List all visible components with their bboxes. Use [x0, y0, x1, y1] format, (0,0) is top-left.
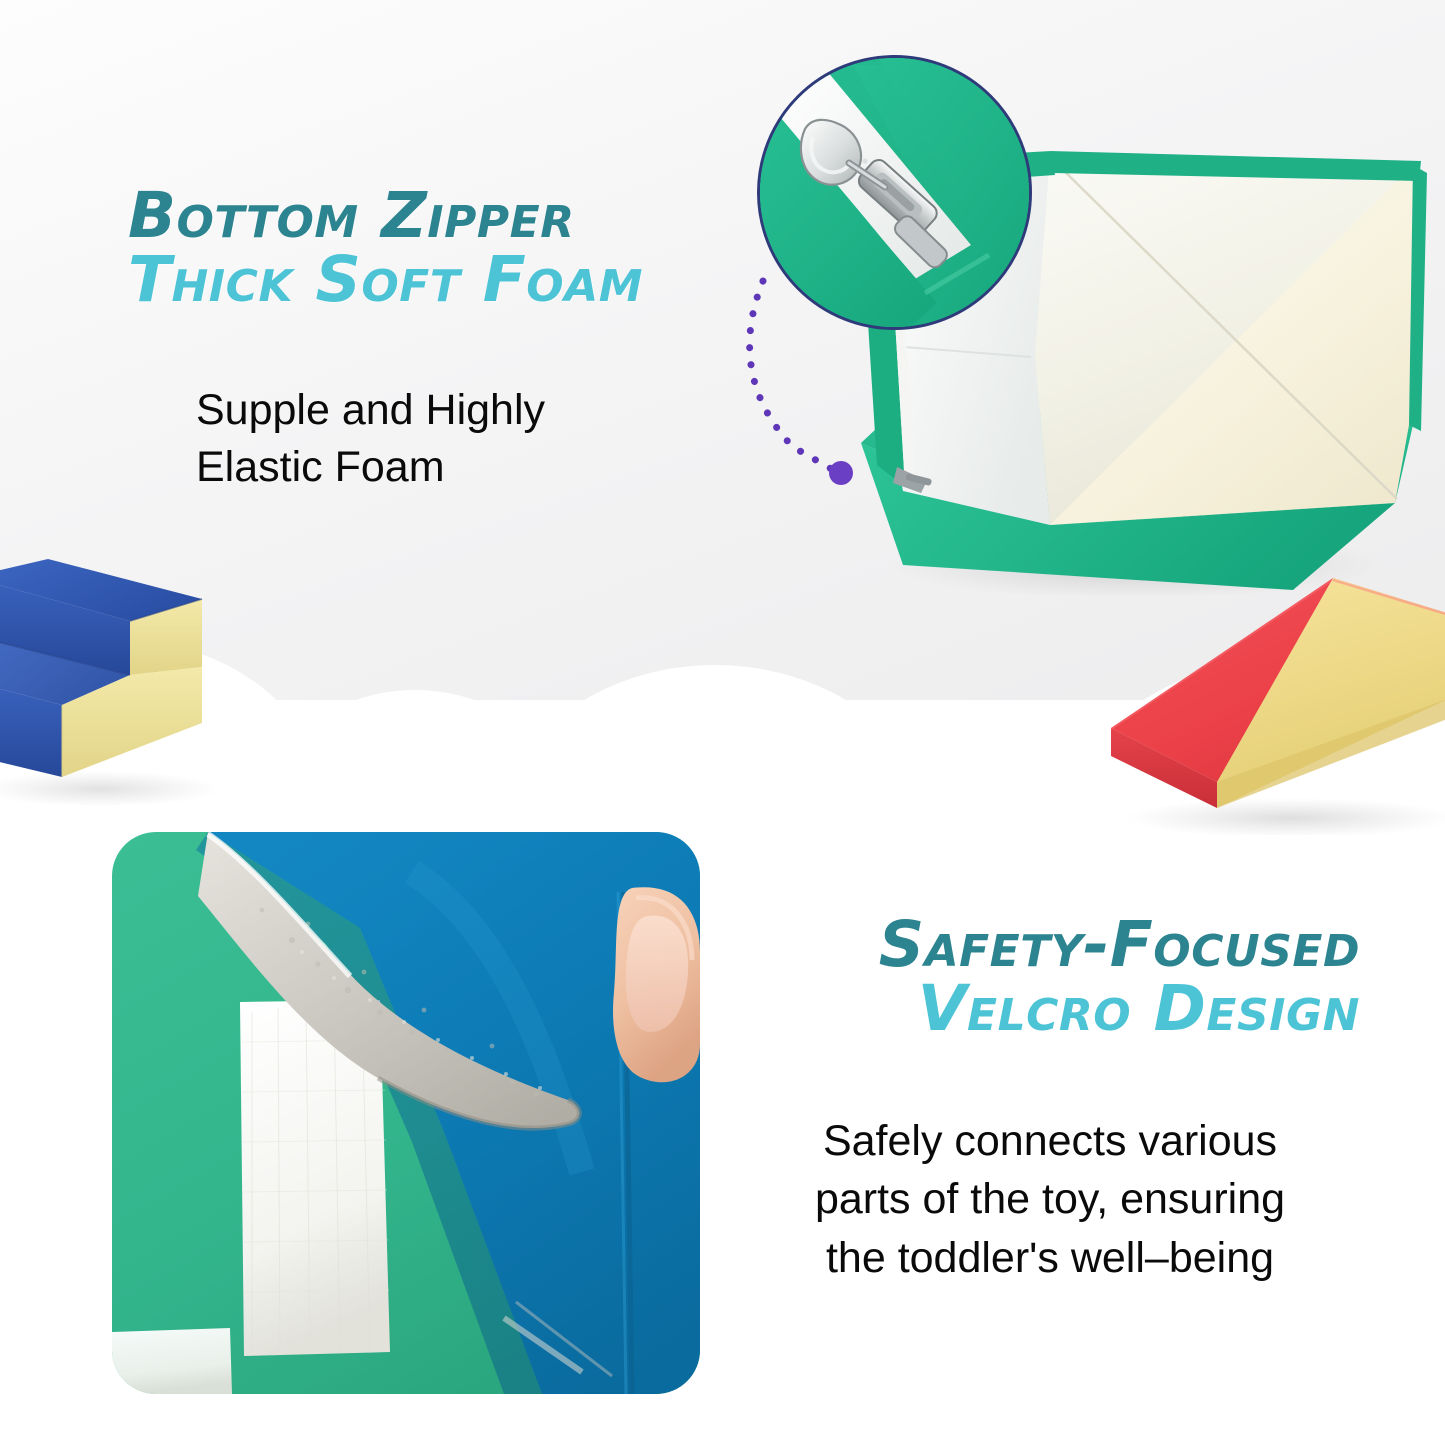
callout-leader-line [735, 275, 895, 505]
blue-foam-stair [0, 545, 240, 805]
heading-velcro-design: Velcro Design [600, 979, 1360, 1039]
body-line-elastic: Elastic Foam [196, 439, 716, 496]
body-line-parts-of-toy: parts of the toy, ensuring [740, 1170, 1360, 1228]
top-left-body-group: Supple and Highly Elastic Foam [196, 382, 716, 496]
body-line-safely-connects: Safely connects various [740, 1112, 1360, 1170]
bottom-right-heading-group: Safety-Focused Velcro Design [600, 915, 1360, 1040]
infographic-canvas: Bottom Zipper Thick Soft Foam Supple and… [0, 0, 1445, 1445]
body-line-supple: Supple and Highly [196, 382, 716, 439]
red-foam-ramp [1105, 570, 1445, 835]
heading-thick-soft-foam: Thick Soft Foam [128, 250, 728, 310]
heading-safety-focused: Safety-Focused [600, 915, 1360, 975]
top-left-heading-group: Bottom Zipper Thick Soft Foam [128, 186, 728, 311]
bottom-right-body-group: Safely connects various parts of the toy… [740, 1112, 1360, 1287]
heading-bottom-zipper: Bottom Zipper [128, 186, 728, 246]
body-line-well-being: the toddler's well–being [740, 1229, 1360, 1287]
